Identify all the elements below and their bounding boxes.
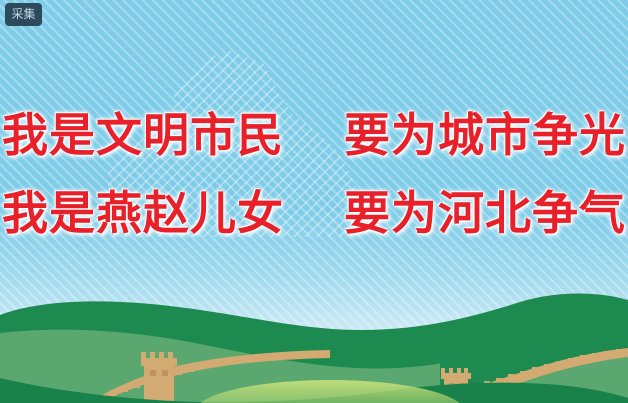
headline-line-2: 我是燕赵儿女 要为河北争气 [0,174,628,252]
headline-block: 我是文明市民 要为城市争光 我是燕赵儿女 要为河北争气 [0,96,628,252]
headline-line-2-left: 我是燕赵儿女 [2,186,284,240]
banner-screen: 我是文明市民 要为城市争光 我是燕赵儿女 要为河北争气 [0,0,628,403]
capture-button[interactable]: 采集 [5,3,42,26]
headline-line-1: 我是文明市民 要为城市争光 [0,96,628,174]
headline-line-2-right: 要为河北争气 [344,186,626,240]
headline-line-1-right: 要为城市争光 [344,108,626,162]
headline-line-1-left: 我是文明市民 [2,108,284,162]
watchtower-left [141,352,177,403]
